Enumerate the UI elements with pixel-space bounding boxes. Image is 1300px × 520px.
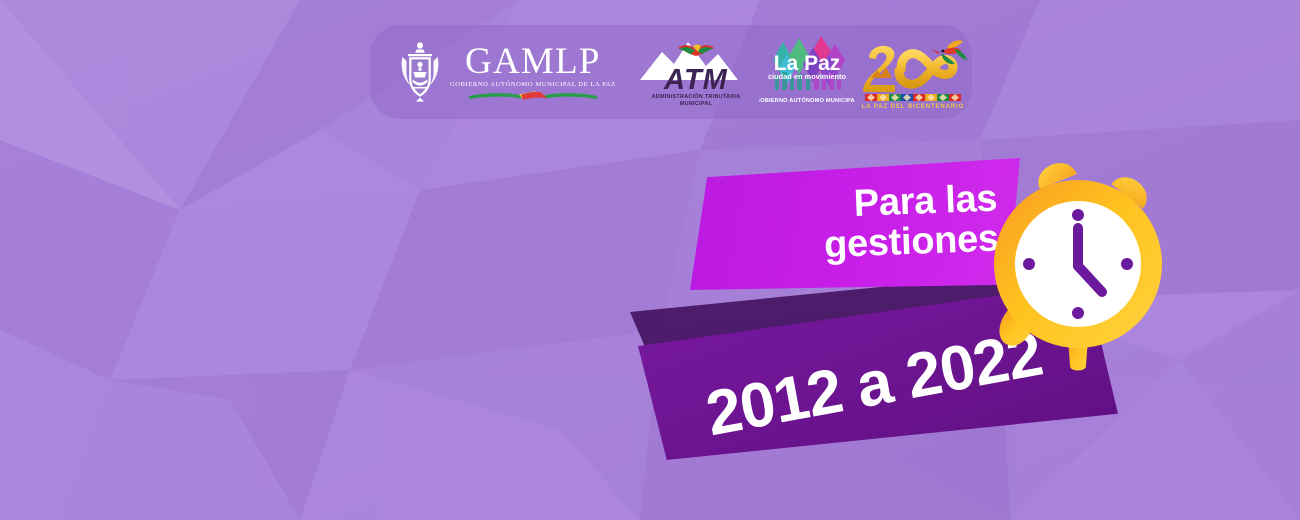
gamlp-wordmark: GAMLP [465, 43, 601, 80]
tricolor-ribbon-icon [469, 90, 597, 101]
clock-marker-9 [1023, 258, 1035, 270]
svg-text:ATM: ATM [663, 64, 728, 96]
atm-logo-icon: ATM ADMINISTRACIÓN TRIBUTARIA MUNICIPAL [638, 34, 756, 110]
bicentenario-200-icon: LA PAZ DEL BICENTENARIO [857, 32, 973, 112]
alarm-clock-illustration [962, 142, 1190, 372]
logo-gamlp: GAMLP GOBIERNO AUTÓNOMO MUNICIPAL DE LA … [384, 25, 616, 119]
logo-la-paz: La Paz ciudad en movimiento GOBIERNO AUT… [759, 34, 843, 110]
logo-atm: ATM ADMINISTRACIÓN TRIBUTARIA MUNICIPAL [638, 34, 741, 110]
svg-text:MUNICIPAL: MUNICIPAL [679, 101, 712, 107]
gamlp-subtitle: GOBIERNO AUTÓNOMO MUNICIPAL DE LA PAZ [450, 82, 616, 89]
svg-text:LA PAZ DEL BICENTENARIO: LA PAZ DEL BICENTENARIO [861, 104, 964, 110]
gamlp-wordmark-block: GAMLP GOBIERNO AUTÓNOMO MUNICIPAL DE LA … [450, 43, 616, 102]
la-paz-logo-icon: La Paz ciudad en movimiento GOBIERNO AUT… [759, 34, 855, 110]
svg-text:ADMINISTRACIÓN TRIBUTARIA: ADMINISTRACIÓN TRIBUTARIA [651, 92, 740, 100]
banner-canvas: GAMLP GOBIERNO AUTÓNOMO MUNICIPAL DE LA … [0, 0, 1300, 520]
svg-text:ciudad en movimiento: ciudad en movimiento [768, 72, 847, 81]
clock-marker-12 [1072, 209, 1084, 221]
logo-bicentenario: LA PAZ DEL BICENTENARIO [857, 32, 958, 112]
clock-marker-3 [1121, 258, 1133, 270]
alarm-clock-icon [962, 142, 1190, 372]
clock-marker-6 [1072, 307, 1084, 319]
svg-text:GOBIERNO AUTÓNOMO MUNICIPAL: GOBIERNO AUTÓNOMO MUNICIPAL [759, 96, 855, 104]
logo-bar: GAMLP GOBIERNO AUTÓNOMO MUNICIPAL DE LA … [370, 25, 972, 119]
coat-of-arms-shield-icon [398, 41, 442, 103]
